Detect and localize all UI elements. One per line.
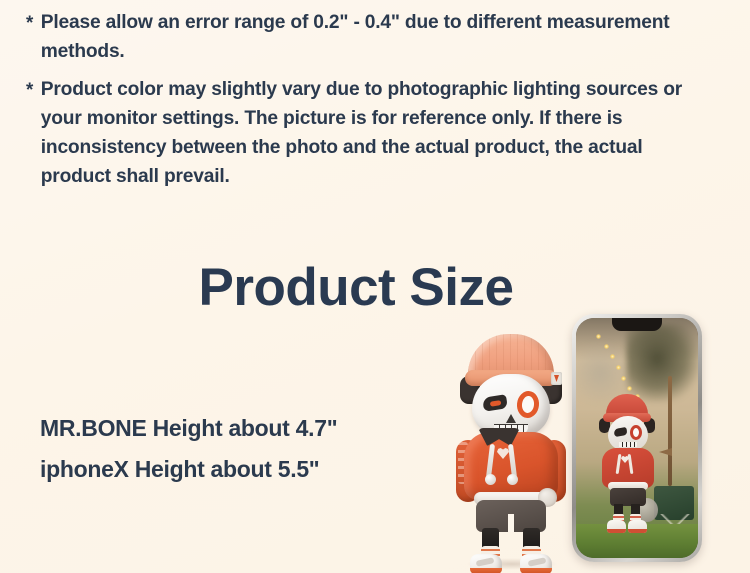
skull-head xyxy=(472,374,550,436)
skull-eye-right-icon xyxy=(516,390,541,419)
skull-nose-icon xyxy=(506,414,516,423)
product-size-infographic: * Please allow an error range of 0.2" - … xyxy=(0,0,750,573)
asterisk-bullet-icon: * xyxy=(26,9,33,38)
mini-skull-head xyxy=(608,416,648,450)
wooden-pole xyxy=(668,376,672,486)
disclaimer-text-measurement: Please allow an error range of 0.2" - 0.… xyxy=(41,11,670,62)
mini-skull-teeth xyxy=(619,442,637,447)
drawstring-bead-left xyxy=(485,474,496,485)
phone-screen xyxy=(576,318,698,558)
disclaimer-text-color: Product color may slightly vary due to p… xyxy=(41,78,682,187)
iphonex-device-image xyxy=(572,314,702,562)
mini-sneaker-right xyxy=(628,520,647,533)
page-title: Product Size xyxy=(0,258,712,318)
disclaimer-list: * Please allow an error range of 0.2" - … xyxy=(26,8,726,200)
mini-sneaker-left xyxy=(607,520,626,533)
skull-eye-left-icon xyxy=(482,394,508,412)
disclaimer-item-measurement: * Please allow an error range of 0.2" - … xyxy=(26,8,716,66)
size-spec-mrbone: MR.BONE Height about 4.7" xyxy=(40,408,337,449)
mrbone-figurine-image xyxy=(452,332,570,568)
size-spec-iphonex: iphoneX Height about 5.5" xyxy=(40,449,337,490)
asterisk-bullet-icon: * xyxy=(26,76,33,105)
beanie-tag-icon xyxy=(551,372,562,385)
size-spec-list: MR.BONE Height about 4.7" iphoneX Height… xyxy=(40,408,337,490)
drawstring-bead-right xyxy=(507,474,518,485)
mrbone-figurine-on-screen xyxy=(596,394,658,544)
mini-skull-eye-right-icon xyxy=(630,425,642,440)
disclaimer-item-color: * Product color may slightly vary due to… xyxy=(26,75,716,191)
phone-notch xyxy=(612,318,662,331)
mini-skull-eye-left-icon xyxy=(613,427,627,437)
string-lights-icon xyxy=(594,332,646,398)
